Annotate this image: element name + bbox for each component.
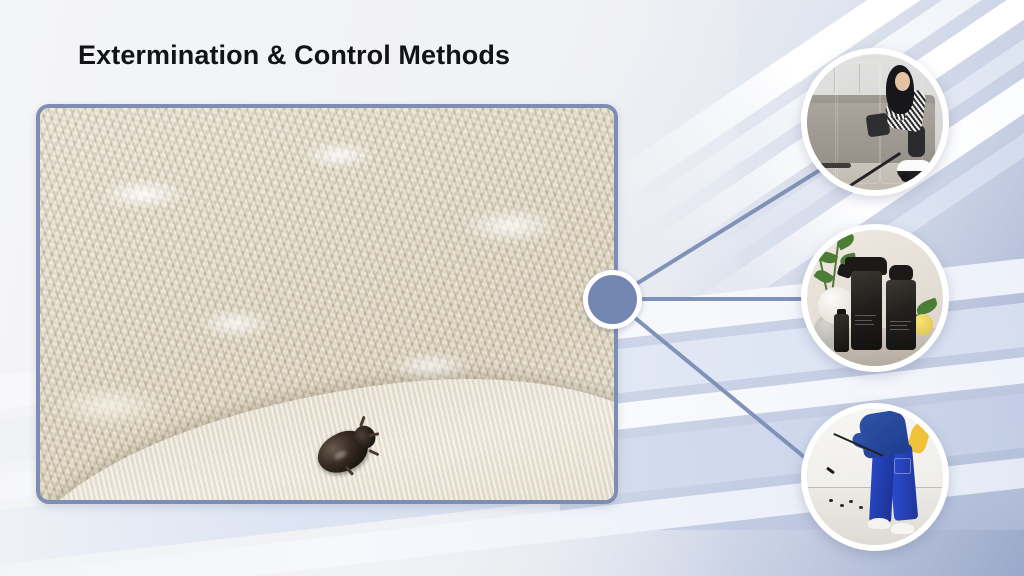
carpet-beetle-photo xyxy=(36,104,618,504)
thumb-pest-control-spraying[interactable] xyxy=(801,403,949,551)
slide-canvas: Extermination & Control Methods xyxy=(0,0,1024,576)
thumb-vacuuming[interactable] xyxy=(801,48,949,196)
diagram-hub-node[interactable] xyxy=(583,270,642,329)
thumb-cleaning-products[interactable] xyxy=(801,224,949,372)
page-title: Extermination & Control Methods xyxy=(78,40,510,71)
